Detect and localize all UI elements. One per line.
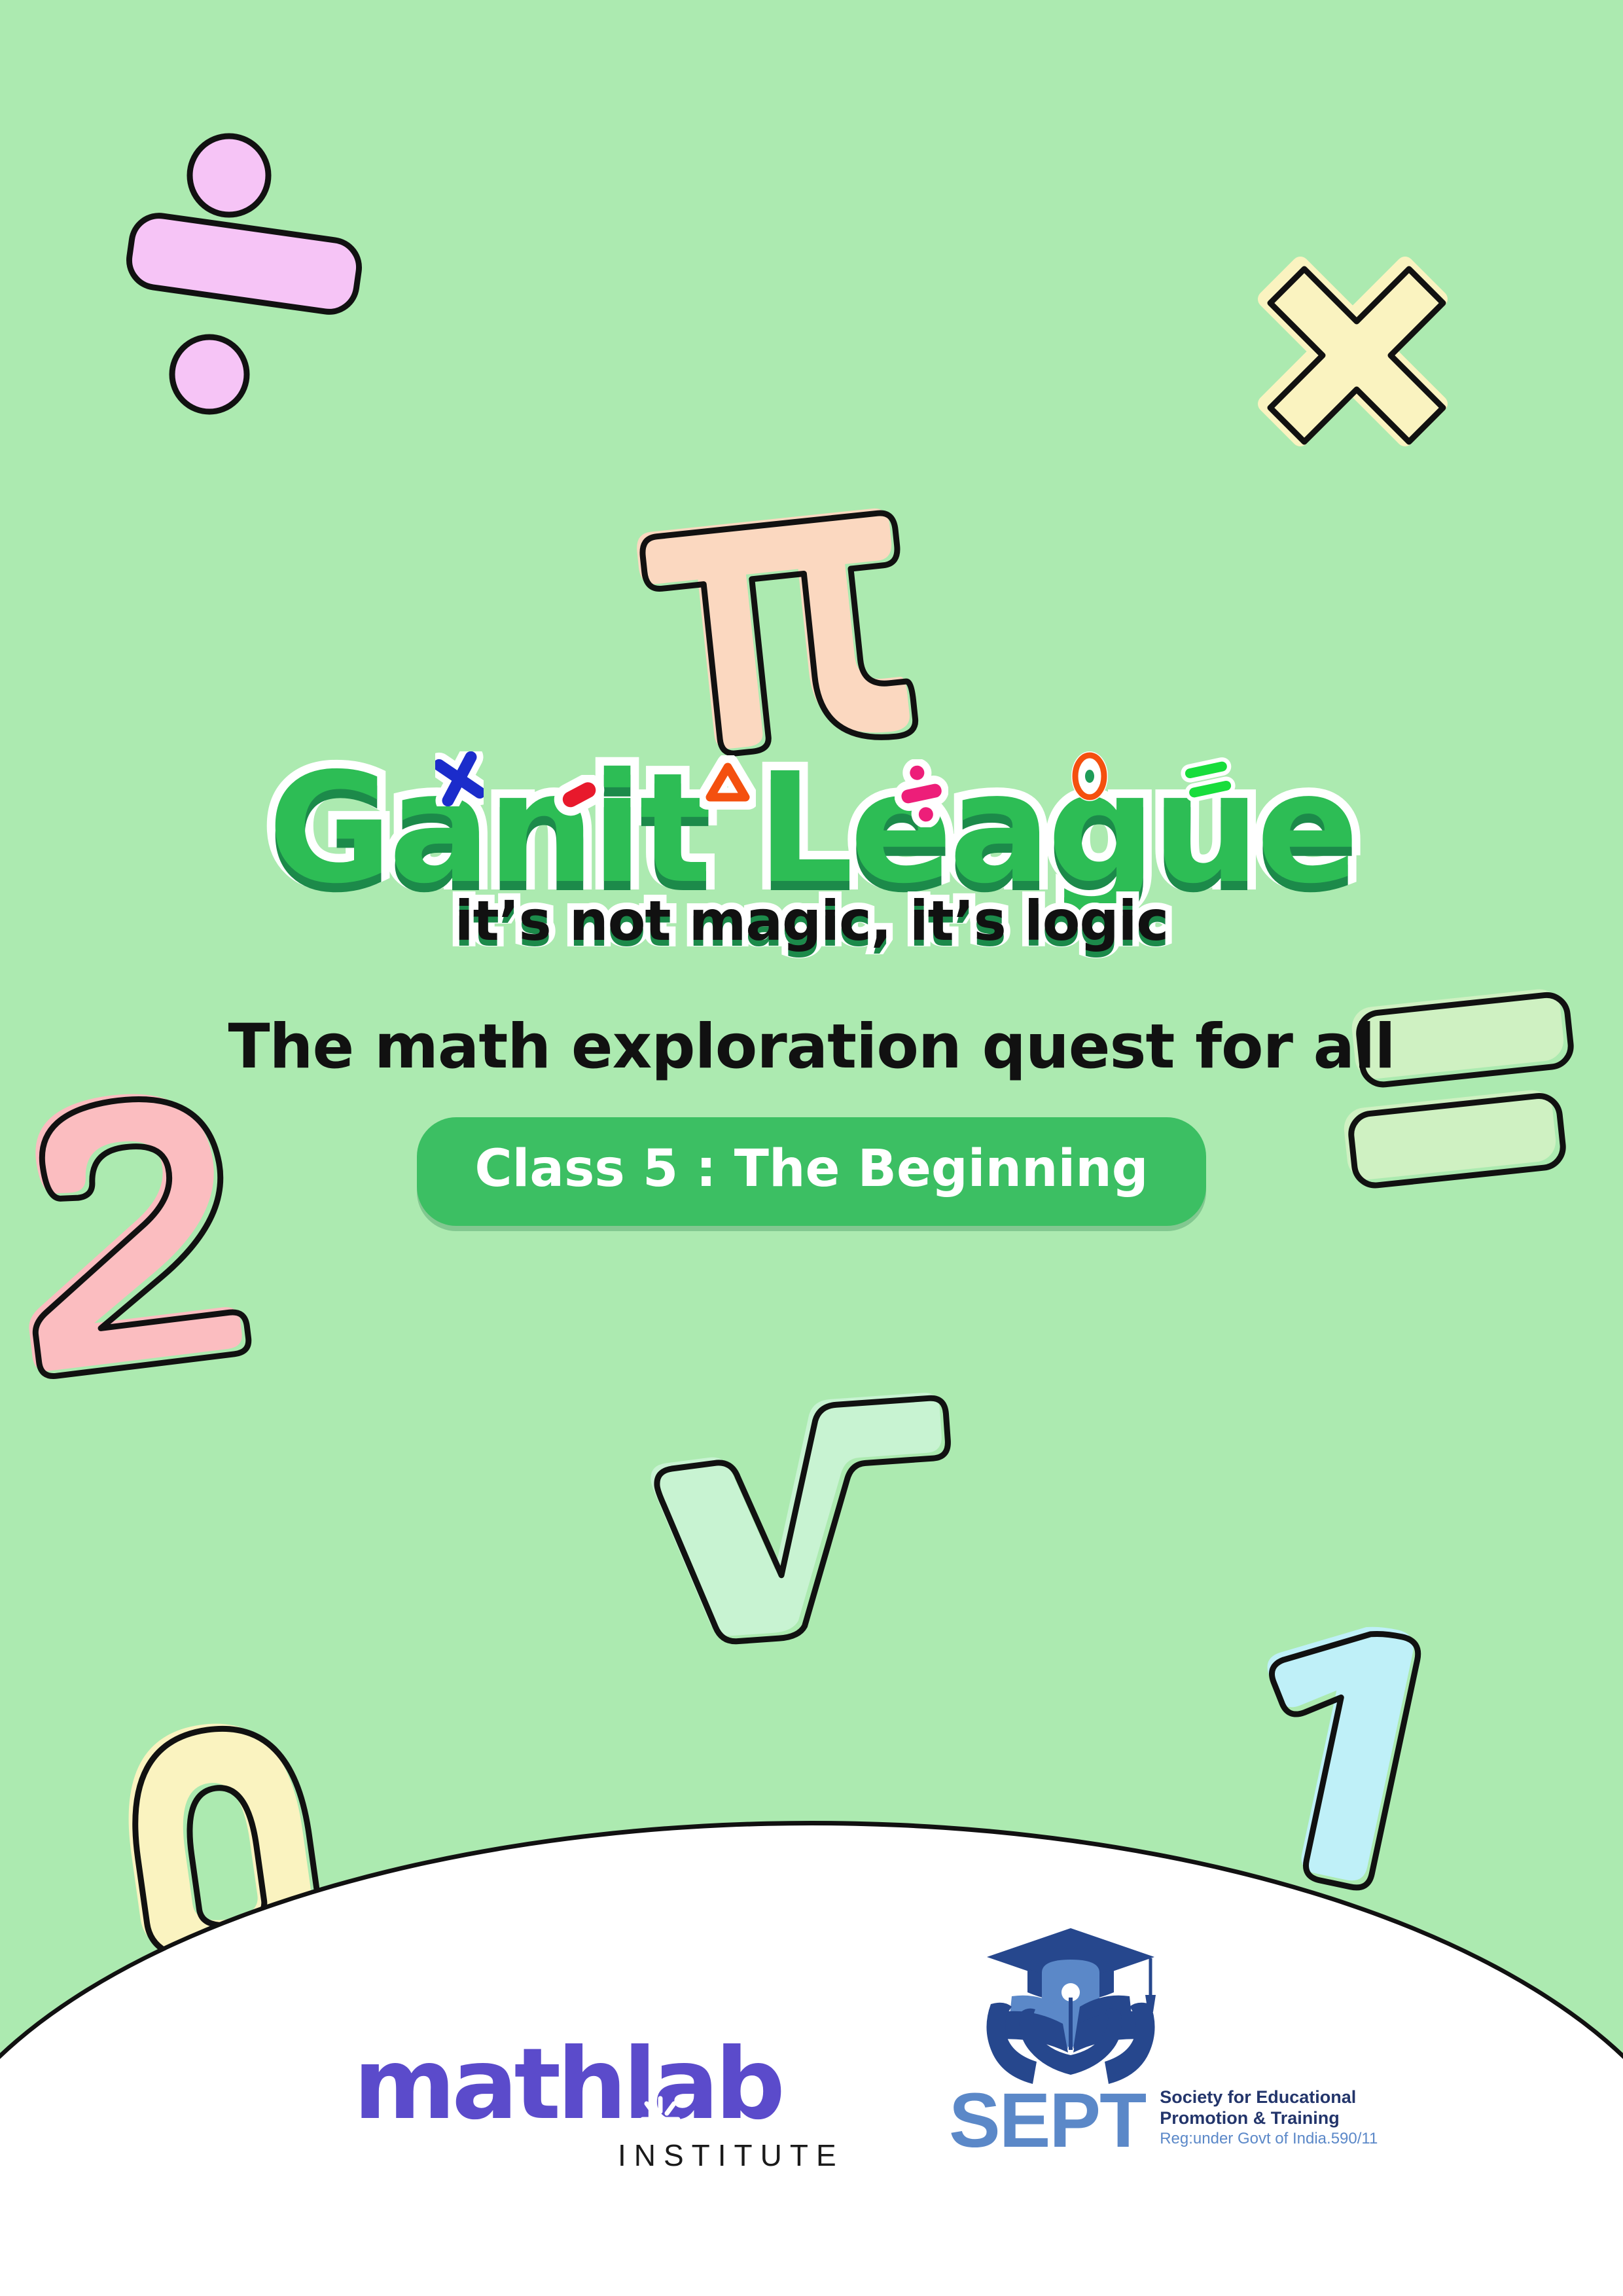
divide-icon — [895, 759, 948, 831]
class-badge[interactable]: Class 5 : The Beginning — [417, 1117, 1205, 1226]
sqrt-sticker — [625, 1378, 965, 1640]
logo-tagline: it’s not magic, it’s logic — [268, 889, 1355, 953]
triangle-icon — [700, 755, 756, 815]
sept-line-2: Promotion & Training — [1160, 2108, 1378, 2129]
sept-acronym: SEPT — [949, 2085, 1145, 2157]
sept-line-1: Society for Educational — [1160, 2087, 1378, 2108]
logo-symbol-row — [396, 749, 1227, 814]
multiply-sticker — [1247, 245, 1469, 468]
poster-canvas: Ganit League it’s not magic, it’s logic … — [0, 0, 1623, 2296]
mathlab-wordmark: mathlab — [353, 2036, 851, 2134]
minus-icon — [550, 775, 609, 820]
pi-sticker — [641, 504, 929, 766]
footer-logos: mathlab INSTITUT — [0, 1977, 1623, 2251]
target-circle-icon — [1063, 746, 1116, 812]
sept-emblem — [972, 1924, 1169, 2088]
mathlab-logo[interactable]: mathlab INSTITUT — [353, 2036, 851, 2173]
class-badge-row: Class 5 : The Beginning — [0, 1117, 1623, 1226]
sept-registration: Reg:under Govt of India.590/11 — [1160, 2129, 1378, 2149]
sept-logo[interactable]: SEPT Society for Educational Promotion &… — [942, 1924, 1309, 2157]
one-sticker — [1247, 1620, 1482, 1895]
poster-subtitle: The math exploration quest for all — [0, 1011, 1623, 1083]
multiply-icon — [435, 751, 484, 810]
mathlab-word-text: mathlab — [353, 2028, 781, 2142]
lotus-icon — [636, 2066, 685, 2122]
equals-icon — [1179, 750, 1238, 812]
brand-logo: Ganit League it’s not magic, it’s logic — [0, 753, 1623, 953]
divide-sticker — [98, 124, 373, 445]
